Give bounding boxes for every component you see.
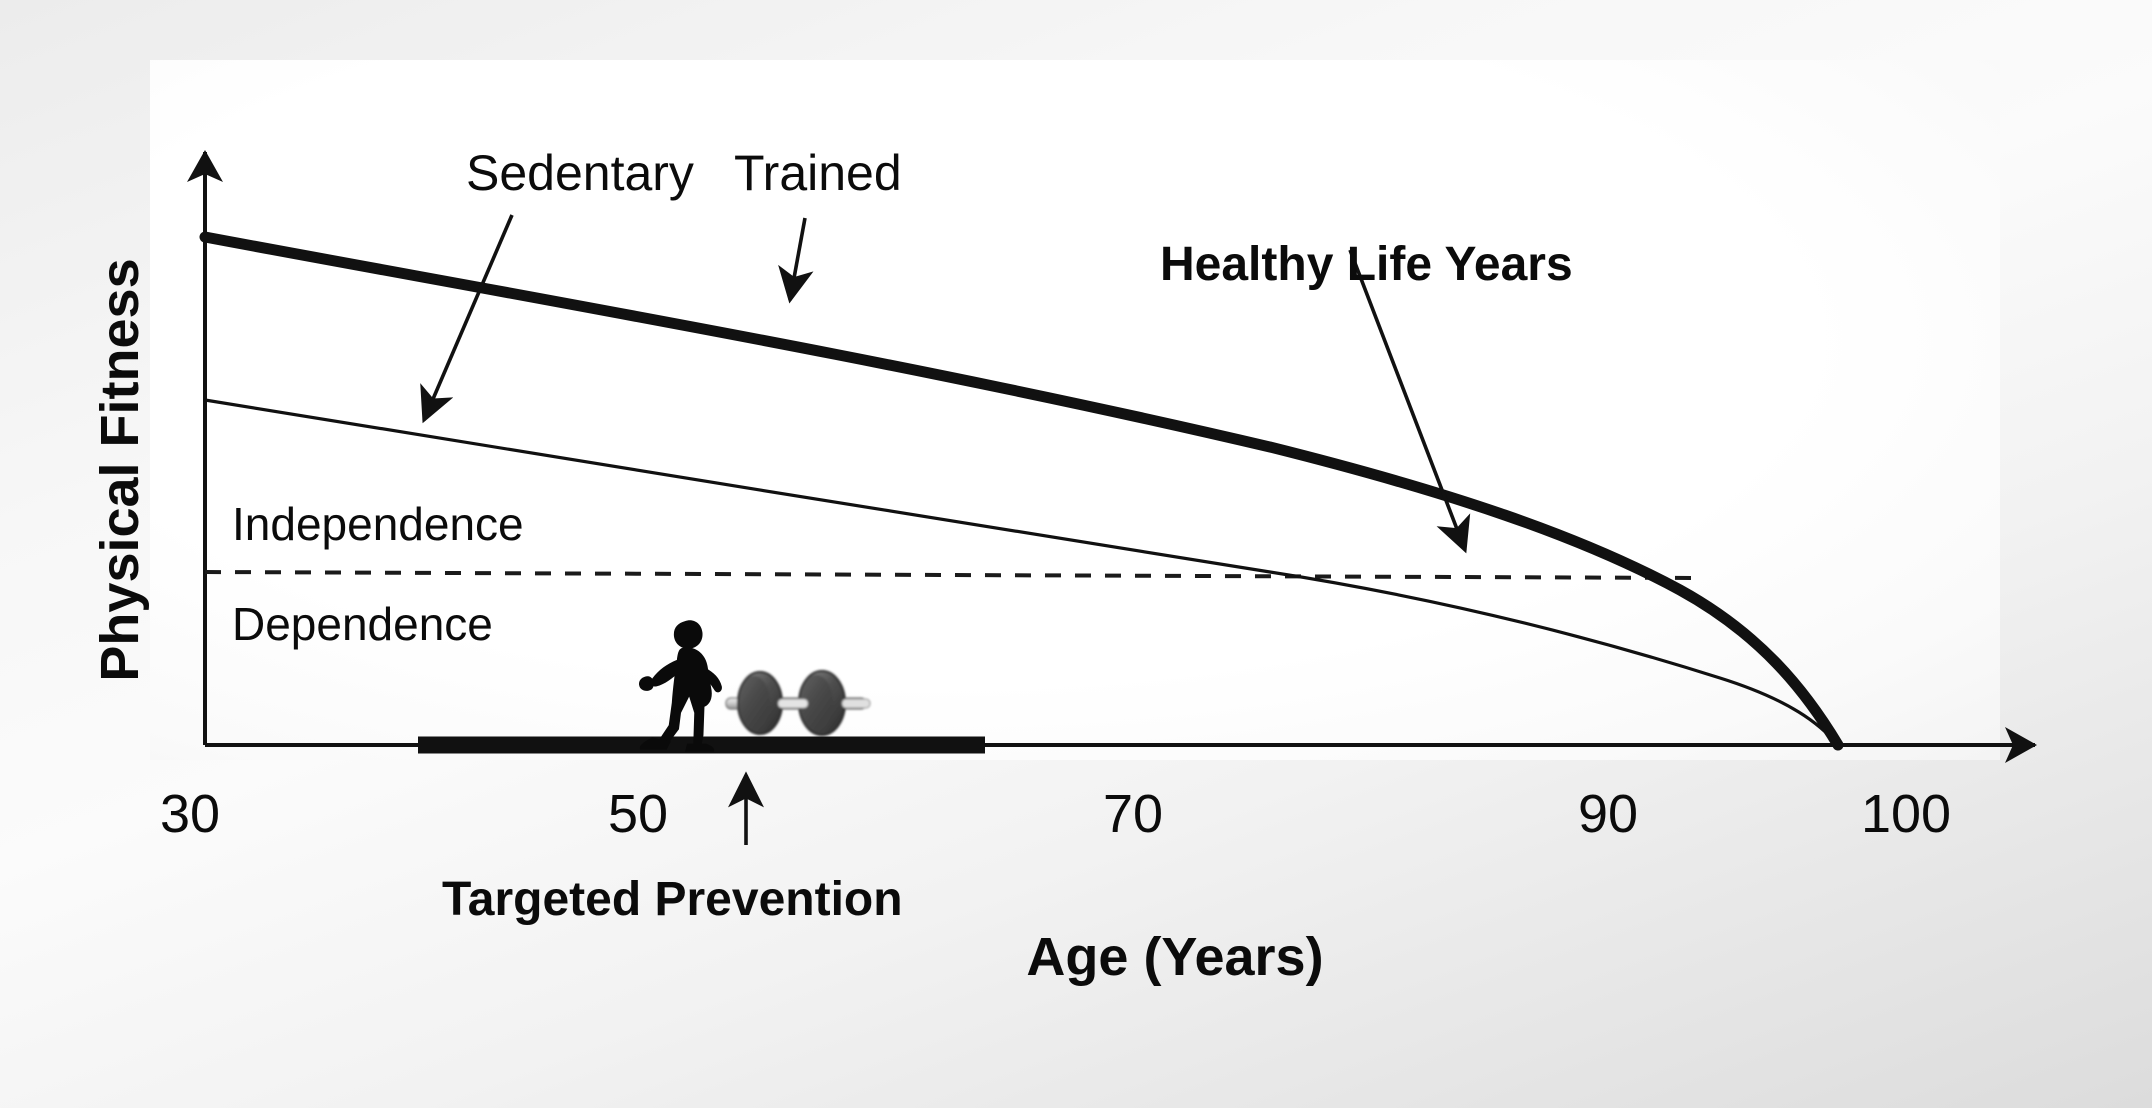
sedentary-callout-arrow — [424, 215, 512, 420]
y-axis-title: Physical Fitness — [90, 258, 150, 681]
trained-callout-arrow — [790, 218, 805, 300]
physical-fitness-vs-age-chart: Physical Fitness Age (Years) 30 50 70 90… — [0, 0, 2152, 1108]
runner-icon — [639, 620, 722, 751]
x-tick-label-100: 100 — [1861, 784, 1951, 844]
dumbbell-icon — [726, 671, 870, 735]
x-axis-title: Age (Years) — [1026, 927, 1323, 987]
independence-label: Independence — [232, 498, 524, 550]
healthy-life-years-label: Healthy Life Years — [1160, 238, 1573, 291]
x-tick-label-50: 50 — [608, 784, 668, 844]
figure-root: Physical Fitness Age (Years) 30 50 70 90… — [0, 0, 2152, 1108]
x-tick-label-30: 30 — [160, 784, 220, 844]
targeted-prevention-label: Targeted Prevention — [442, 873, 903, 926]
trained-curve — [205, 237, 1838, 745]
trained-label: Trained — [734, 145, 902, 201]
independence-threshold-line — [205, 572, 1700, 578]
sedentary-label: Sedentary — [466, 145, 694, 201]
healthy-life-years-callout-arrow — [1350, 250, 1465, 550]
x-tick-label-90: 90 — [1578, 784, 1638, 844]
x-tick-label-70: 70 — [1103, 784, 1163, 844]
dependence-label: Dependence — [232, 598, 493, 650]
